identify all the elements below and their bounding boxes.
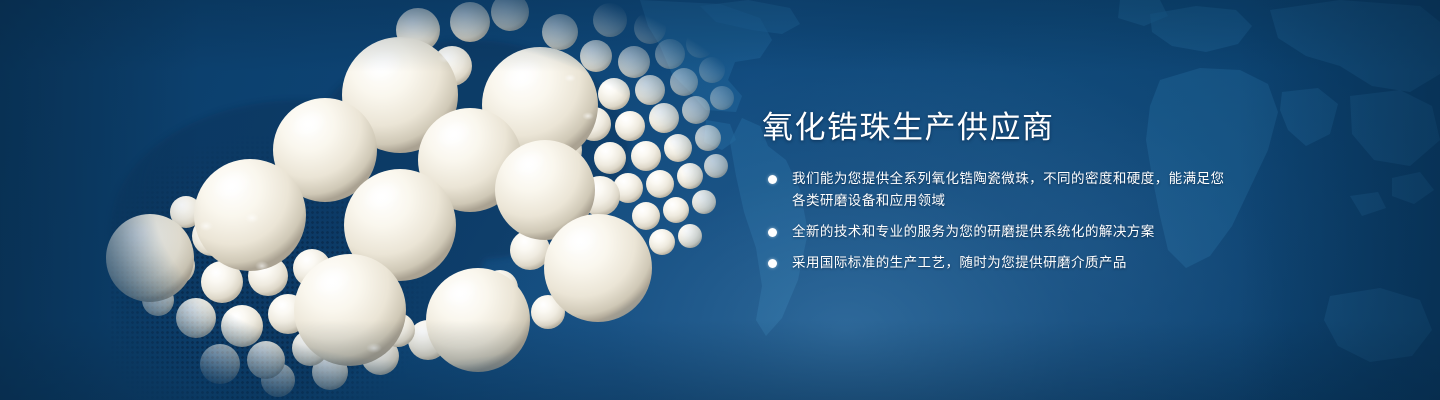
list-item: 我们能为您提供全系列氧化锆陶瓷微珠，不同的密度和硬度，能满足您各类研磨设备和应用… (762, 168, 1232, 212)
banner-headline: 氧化锆珠生产供应商 (762, 108, 1055, 148)
feature-list: 我们能为您提供全系列氧化锆陶瓷微珠，不同的密度和硬度，能满足您各类研磨设备和应用… (762, 168, 1232, 274)
list-item: 采用国际标准的生产工艺，随时为您提供研磨介质产品 (762, 252, 1232, 274)
feature-text: 我们能为您提供全系列氧化锆陶瓷微珠，不同的密度和硬度，能满足您各类研磨设备和应用… (792, 168, 1232, 212)
feature-text: 采用国际标准的生产工艺，随时为您提供研磨介质产品 (792, 252, 1232, 274)
feature-text: 全新的技术和专业的服务为您的研磨提供系统化的解决方案 (792, 221, 1232, 243)
hero-banner: 氧化锆珠生产供应商 我们能为您提供全系列氧化锆陶瓷微珠，不同的密度和硬度，能满足… (0, 0, 1440, 400)
bullet-dot-icon (768, 259, 777, 268)
list-item: 全新的技术和专业的服务为您的研磨提供系统化的解决方案 (762, 221, 1232, 243)
banner-content: 氧化锆珠生产供应商 我们能为您提供全系列氧化锆陶瓷微珠，不同的密度和硬度，能满足… (762, 0, 1440, 400)
bullet-dot-icon (768, 175, 777, 184)
bullet-dot-icon (768, 228, 777, 237)
